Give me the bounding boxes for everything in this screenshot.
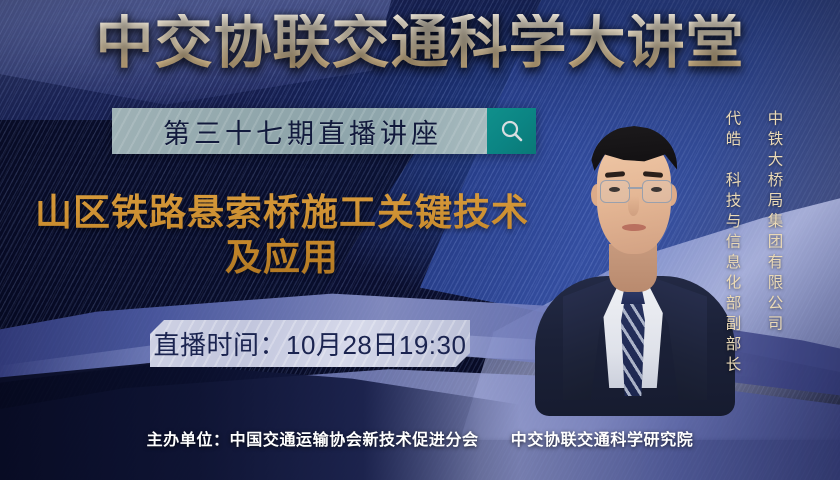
- page-title: 中交协联交通科学大讲堂: [0, 14, 840, 72]
- organizers-footer-suffix: 中交协联交通科学研究院: [511, 432, 694, 449]
- episode-badge-body: 第三十七期直播讲座: [112, 108, 487, 154]
- speaker-portrait: [543, 108, 725, 408]
- portrait-glasses-bridge: [628, 187, 642, 189]
- organizers-footer-prefix: 主办单位：中国交通运输协会新技术促进分会: [147, 432, 479, 449]
- broadcast-time-plate: 直播时间：10月28日19:30: [150, 320, 470, 367]
- live-broadcast-poster: 中交协联交通科学大讲堂 第三十七期直播讲座 山区铁路悬索桥施工关键技术 及应用 …: [0, 0, 840, 480]
- lecture-headline-line1: 山区铁路悬索桥施工关键技术: [35, 192, 529, 233]
- portrait-glasses-right-lens: [642, 180, 672, 203]
- speaker-organization: 中铁大桥局集团有限公司: [766, 110, 782, 336]
- lecture-headline-line2: 及应用: [22, 235, 542, 280]
- episode-badge-label: 第三十七期直播讲座: [157, 112, 442, 151]
- broadcast-time-text: 直播时间：10月28日19:30: [154, 325, 467, 362]
- portrait-mouth: [622, 224, 646, 231]
- portrait-nose: [628, 196, 639, 216]
- speaker-name-title: 代皓 科技与信息化部副部长: [724, 110, 740, 377]
- lecture-headline: 山区铁路悬索桥施工关键技术 及应用: [22, 190, 542, 280]
- episode-badge: 第三十七期直播讲座: [112, 108, 536, 154]
- search-button[interactable]: [487, 108, 536, 154]
- portrait-glasses-left-lens: [600, 180, 630, 203]
- organizers-footer: 主办单位：中国交通运输协会新技术促进分会 中交协联交通科学研究院: [0, 426, 840, 450]
- search-icon: [499, 118, 525, 144]
